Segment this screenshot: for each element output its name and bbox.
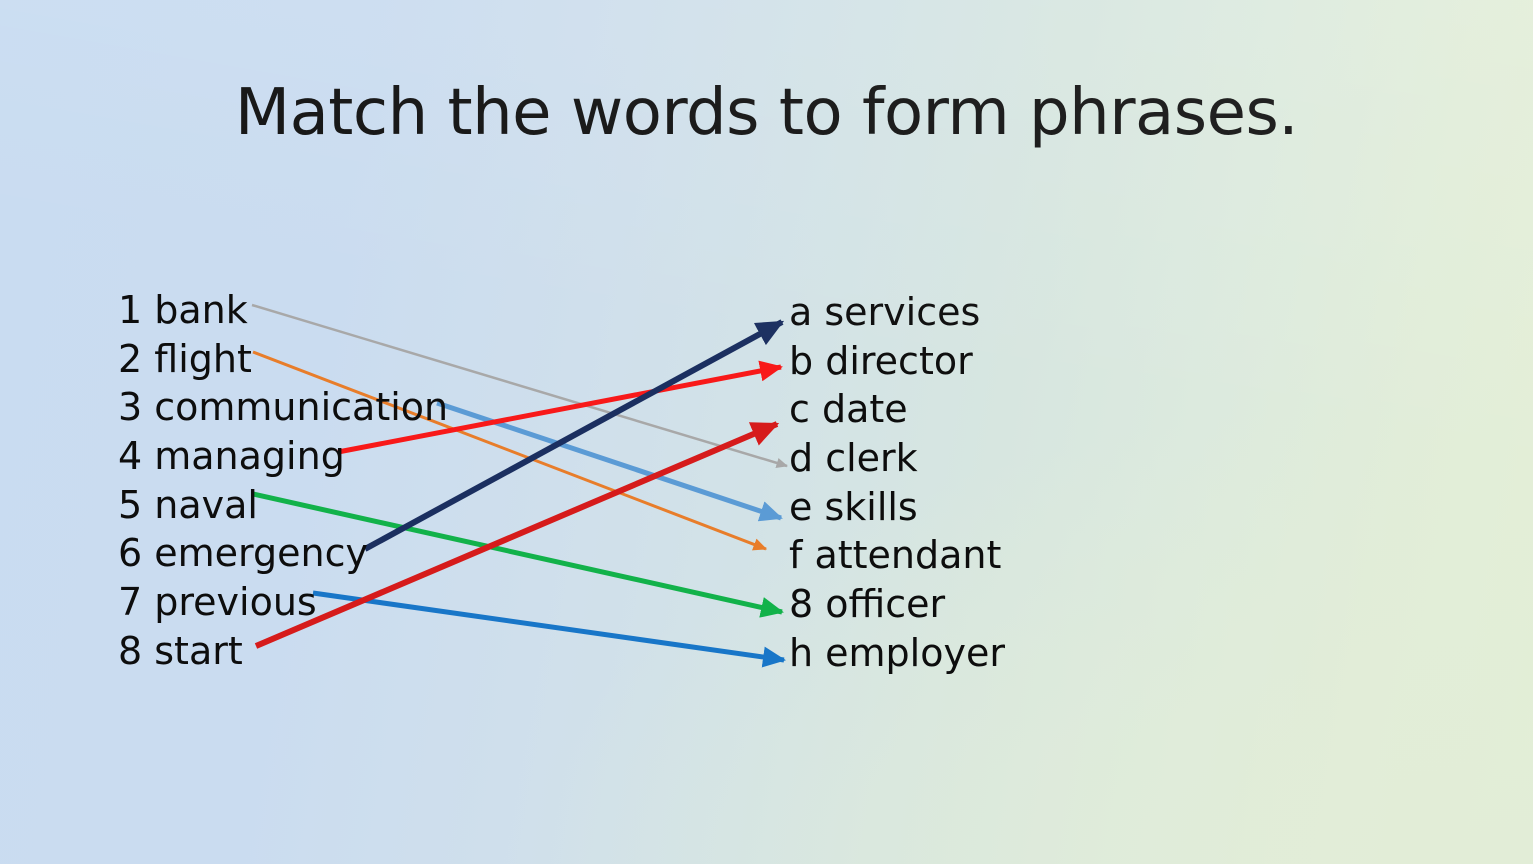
left-word-list: 1 bank 2 flight 3 communication 4 managi… [118, 286, 448, 676]
list-item[interactable]: 1 bank [118, 286, 448, 335]
connector-communication-to-skills[interactable] [437, 403, 781, 518]
right-word-list: a services b director c date d clerk e s… [789, 288, 1005, 678]
slide-canvas: Match the words to form phrases. [0, 0, 1533, 864]
list-item[interactable]: 3 communication [118, 383, 448, 432]
list-item[interactable]: b director [789, 337, 1005, 386]
list-item[interactable]: e skills [789, 483, 1005, 532]
list-item[interactable]: 8 officer [789, 580, 1005, 629]
list-item[interactable]: h employer [789, 629, 1005, 678]
list-item[interactable]: c date [789, 385, 1005, 434]
list-item[interactable]: d clerk [789, 434, 1005, 483]
list-item[interactable]: 8 start [118, 627, 448, 676]
list-item[interactable]: f attendant [789, 531, 1005, 580]
list-item[interactable]: a services [789, 288, 1005, 337]
list-item[interactable]: 5 naval [118, 481, 448, 530]
list-item[interactable]: 4 managing [118, 432, 448, 481]
list-item[interactable]: 2 flight [118, 335, 448, 384]
list-item[interactable]: 7 previous [118, 578, 448, 627]
list-item[interactable]: 6 emergency [118, 529, 448, 578]
